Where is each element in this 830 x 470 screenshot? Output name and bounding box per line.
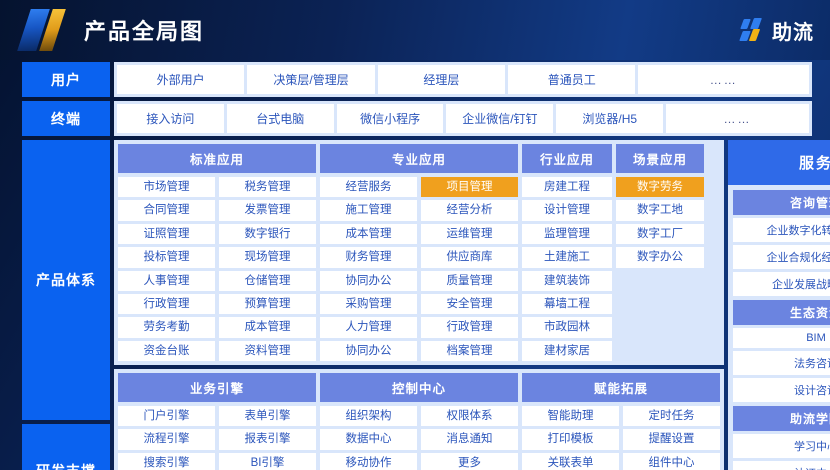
app-item[interactable]: 行政管理 bbox=[118, 294, 215, 314]
app-group-columns: 经营服务施工管理成本管理财务管理协同办公采购管理人力管理协同办公项目管理经营分析… bbox=[320, 177, 518, 361]
app-item[interactable]: 成本管理 bbox=[219, 317, 316, 337]
middle-content: 标准应用市场管理合同管理证照管理投标管理人事管理行政管理劳务考勤资金台账税务管理… bbox=[114, 140, 830, 470]
app-item[interactable]: 流程引擎 bbox=[118, 429, 215, 449]
list-item[interactable]: …… bbox=[666, 104, 809, 133]
service-block-title: 生态资源 bbox=[733, 300, 830, 325]
app-column: 组织架构数据中心移动协作 bbox=[320, 406, 417, 470]
list-item[interactable]: 浏览器/H5 bbox=[556, 104, 663, 133]
app-column: 项目管理经营分析运维管理供应商库质量管理安全管理行政管理档案管理 bbox=[421, 177, 518, 361]
app-item[interactable]: 搜索引擎 bbox=[118, 453, 215, 470]
page-header: 产品全局图 助流 bbox=[0, 0, 830, 60]
terminal-items: 接入访问台式电脑微信小程序企业微信/钉钉浏览器/H5…… bbox=[114, 101, 812, 136]
service-item[interactable]: 认证中心 bbox=[733, 461, 830, 470]
list-item[interactable]: 企业微信/钉钉 bbox=[446, 104, 553, 133]
app-item[interactable]: 现场管理 bbox=[219, 247, 316, 267]
app-group: 控制中心组织架构数据中心移动协作权限体系消息通知更多 bbox=[320, 373, 518, 470]
app-item[interactable]: 档案管理 bbox=[421, 341, 518, 361]
sidebar-label-product-system: 产品体系 bbox=[22, 140, 110, 420]
app-group-title: 赋能拓展 bbox=[522, 373, 720, 402]
service-item[interactable]: 设计咨询 bbox=[733, 378, 830, 402]
app-group-columns: 智能助理打印模板关联表单定时任务提醒设置组件中心 bbox=[522, 406, 720, 470]
service-item[interactable]: 法务咨询 bbox=[733, 351, 830, 375]
app-item[interactable]: 人事管理 bbox=[118, 271, 215, 291]
app-item[interactable]: 数据中心 bbox=[320, 429, 417, 449]
app-item[interactable]: 建材家居 bbox=[522, 341, 612, 361]
user-items: 外部用户决策层/管理层经理层普通员工…… bbox=[114, 62, 812, 97]
middle-left-column: 标准应用市场管理合同管理证照管理投标管理人事管理行政管理劳务考勤资金台账税务管理… bbox=[114, 140, 724, 470]
app-group: 赋能拓展智能助理打印模板关联表单定时任务提醒设置组件中心 bbox=[522, 373, 720, 470]
app-item[interactable]: 证照管理 bbox=[118, 224, 215, 244]
app-item[interactable]: 建筑装饰 bbox=[522, 271, 612, 291]
app-item[interactable]: 施工管理 bbox=[320, 200, 417, 220]
parallelogram-logo-icon bbox=[22, 9, 74, 51]
app-item[interactable]: 更多 bbox=[421, 453, 518, 470]
list-item[interactable]: 接入访问 bbox=[117, 104, 224, 133]
page-title: 产品全局图 bbox=[84, 14, 204, 46]
app-item[interactable]: 劳务考勤 bbox=[118, 317, 215, 337]
row-user: 用户 外部用户决策层/管理层经理层普通员工…… bbox=[22, 62, 812, 97]
service-block-title: 助流学院 bbox=[733, 406, 830, 431]
service-block-title: 咨询管理 bbox=[733, 190, 830, 215]
app-item[interactable]: 智能助理 bbox=[522, 406, 619, 426]
services-panel: 服务 咨询管理企业数字化转型咨询企业合规化经营咨询企业发展战略咨询生态资源BIM… bbox=[728, 140, 830, 470]
app-column: 房建工程设计管理监理管理土建施工建筑装饰幕墙工程市政园林建材家居 bbox=[522, 177, 612, 361]
app-item[interactable]: 预算管理 bbox=[219, 294, 316, 314]
app-item[interactable]: 人力管理 bbox=[320, 317, 417, 337]
list-item[interactable]: 决策层/管理层 bbox=[247, 65, 374, 94]
app-group-title: 控制中心 bbox=[320, 373, 518, 402]
app-item[interactable]: 采购管理 bbox=[320, 294, 417, 314]
app-item[interactable]: 门户引擎 bbox=[118, 406, 215, 426]
app-item[interactable]: 数字办公 bbox=[616, 247, 704, 267]
app-item[interactable]: 数字工地 bbox=[616, 200, 704, 220]
app-item[interactable]: 供应商库 bbox=[421, 247, 518, 267]
service-item[interactable]: 企业发展战略咨询 bbox=[733, 272, 830, 296]
app-item[interactable]: 协同办公 bbox=[320, 271, 417, 291]
app-item[interactable]: 报表引擎 bbox=[219, 429, 316, 449]
app-item[interactable]: 仓储管理 bbox=[219, 271, 316, 291]
app-column: 市场管理合同管理证照管理投标管理人事管理行政管理劳务考勤资金台账 bbox=[118, 177, 215, 361]
app-item[interactable]: 市政园林 bbox=[522, 317, 612, 337]
app-item[interactable]: 土建施工 bbox=[522, 247, 612, 267]
app-column: 表单引擎报表引擎BI引擎 bbox=[219, 406, 316, 470]
list-item[interactable]: 外部用户 bbox=[117, 65, 244, 94]
app-item[interactable]: 消息通知 bbox=[421, 429, 518, 449]
app-item[interactable]: 税务管理 bbox=[219, 177, 316, 197]
app-column: 权限体系消息通知更多 bbox=[421, 406, 518, 470]
service-item[interactable]: 企业数字化转型咨询 bbox=[733, 218, 830, 242]
app-item[interactable]: 数字工厂 bbox=[616, 224, 704, 244]
app-group-title: 业务引擎 bbox=[118, 373, 316, 402]
app-group-title: 行业应用 bbox=[522, 144, 612, 173]
rd-support-panel: 业务引擎门户引擎流程引擎搜索引擎表单引擎报表引擎BI引擎控制中心组织架构数据中心… bbox=[114, 369, 724, 470]
app-item[interactable]: 组件中心 bbox=[623, 453, 720, 470]
list-item[interactable]: …… bbox=[638, 65, 809, 94]
app-item[interactable]: 成本管理 bbox=[320, 224, 417, 244]
service-item[interactable]: 学习中心 bbox=[733, 434, 830, 458]
sidebar-label-user: 用户 bbox=[22, 62, 110, 97]
service-block: 咨询管理企业数字化转型咨询企业合规化经营咨询企业发展战略咨询 bbox=[733, 190, 830, 296]
list-item[interactable]: 普通员工 bbox=[508, 65, 635, 94]
architecture-board: 用户 外部用户决策层/管理层经理层普通员工…… 终端 接入访问台式电脑微信小程序… bbox=[0, 60, 830, 470]
app-group: 行业应用房建工程设计管理监理管理土建施工建筑装饰幕墙工程市政园林建材家居 bbox=[522, 144, 612, 361]
app-item[interactable]: 权限体系 bbox=[421, 406, 518, 426]
app-item[interactable]: 幕墙工程 bbox=[522, 294, 612, 314]
app-group: 场景应用数字劳务数字工地数字工厂数字办公 bbox=[616, 144, 704, 361]
app-item-highlighted[interactable]: 数字劳务 bbox=[616, 177, 704, 197]
row-terminal: 终端 接入访问台式电脑微信小程序企业微信/钉钉浏览器/H5…… bbox=[22, 101, 812, 136]
app-item[interactable]: 发票管理 bbox=[219, 200, 316, 220]
app-item[interactable]: 投标管理 bbox=[118, 247, 215, 267]
product-system-panel: 标准应用市场管理合同管理证照管理投标管理人事管理行政管理劳务考勤资金台账税务管理… bbox=[114, 140, 724, 365]
brand-area: 助流 bbox=[740, 16, 814, 45]
app-item[interactable]: 财务管理 bbox=[320, 247, 417, 267]
service-item[interactable]: BIM bbox=[733, 328, 830, 348]
row-middle: 产品体系 研发支撑 标准应用市场管理合同管理证照管理投标管理人事管理行政管理劳务… bbox=[22, 140, 812, 470]
app-column: 定时任务提醒设置组件中心 bbox=[623, 406, 720, 470]
app-item[interactable]: 关联表单 bbox=[522, 453, 619, 470]
app-group-columns: 门户引擎流程引擎搜索引擎表单引擎报表引擎BI引擎 bbox=[118, 406, 316, 470]
service-block: 生态资源BIM法务咨询设计咨询 bbox=[733, 300, 830, 402]
app-item[interactable]: 行政管理 bbox=[421, 317, 518, 337]
app-item[interactable]: 协同办公 bbox=[320, 341, 417, 361]
app-item[interactable]: BI引擎 bbox=[219, 453, 316, 470]
app-column: 数字劳务数字工地数字工厂数字办公 bbox=[616, 177, 704, 361]
app-item[interactable]: 房建工程 bbox=[522, 177, 612, 197]
app-item[interactable]: 资金台账 bbox=[118, 341, 215, 361]
app-group-columns: 数字劳务数字工地数字工厂数字办公 bbox=[616, 177, 704, 361]
service-block: 助流学院学习中心认证中心资料/干货/白皮书 bbox=[733, 406, 830, 470]
service-item[interactable]: 企业合规化经营咨询 bbox=[733, 245, 830, 269]
app-column: 税务管理发票管理数字银行现场管理仓储管理预算管理成本管理资料管理 bbox=[219, 177, 316, 361]
app-group-columns: 组织架构数据中心移动协作权限体系消息通知更多 bbox=[320, 406, 518, 470]
app-group: 业务引擎门户引擎流程引擎搜索引擎表单引擎报表引擎BI引擎 bbox=[118, 373, 316, 470]
brand-name: 助流 bbox=[772, 16, 814, 45]
app-item[interactable]: 经营服务 bbox=[320, 177, 417, 197]
app-item[interactable]: 合同管理 bbox=[118, 200, 215, 220]
app-item[interactable]: 资料管理 bbox=[219, 341, 316, 361]
app-item[interactable]: 质量管理 bbox=[421, 271, 518, 291]
app-item[interactable]: 监理管理 bbox=[522, 224, 612, 244]
app-group-columns: 市场管理合同管理证照管理投标管理人事管理行政管理劳务考勤资金台账税务管理发票管理… bbox=[118, 177, 316, 361]
app-item[interactable]: 市场管理 bbox=[118, 177, 215, 197]
app-column: 智能助理打印模板关联表单 bbox=[522, 406, 619, 470]
sidebar-label-rd-support: 研发支撑 bbox=[22, 424, 110, 470]
app-group: 标准应用市场管理合同管理证照管理投标管理人事管理行政管理劳务考勤资金台账税务管理… bbox=[118, 144, 316, 361]
services-title: 服务 bbox=[728, 140, 830, 185]
app-group-title: 专业应用 bbox=[320, 144, 518, 173]
app-item[interactable]: 定时任务 bbox=[623, 406, 720, 426]
app-item[interactable]: 经营分析 bbox=[421, 200, 518, 220]
app-item[interactable]: 数字银行 bbox=[219, 224, 316, 244]
list-item[interactable]: 经理层 bbox=[378, 65, 505, 94]
app-item[interactable]: 组织架构 bbox=[320, 406, 417, 426]
app-item[interactable]: 设计管理 bbox=[522, 200, 612, 220]
app-item[interactable]: 运维管理 bbox=[421, 224, 518, 244]
app-column: 经营服务施工管理成本管理财务管理协同办公采购管理人力管理协同办公 bbox=[320, 177, 417, 361]
app-item[interactable]: 移动协作 bbox=[320, 453, 417, 470]
app-group-columns: 房建工程设计管理监理管理土建施工建筑装饰幕墙工程市政园林建材家居 bbox=[522, 177, 612, 361]
app-group-title: 标准应用 bbox=[118, 144, 316, 173]
app-item-highlighted[interactable]: 项目管理 bbox=[421, 177, 518, 197]
sidebar-label-terminal: 终端 bbox=[22, 101, 110, 136]
app-item[interactable]: 表单引擎 bbox=[219, 406, 316, 426]
app-item[interactable]: 提醒设置 bbox=[623, 429, 720, 449]
list-item[interactable]: 台式电脑 bbox=[227, 104, 334, 133]
zhuliu-bolt-icon bbox=[740, 17, 766, 43]
list-item[interactable]: 微信小程序 bbox=[337, 104, 444, 133]
app-group: 专业应用经营服务施工管理成本管理财务管理协同办公采购管理人力管理协同办公项目管理… bbox=[320, 144, 518, 361]
app-item[interactable]: 打印模板 bbox=[522, 429, 619, 449]
app-item[interactable]: 安全管理 bbox=[421, 294, 518, 314]
app-group-title: 场景应用 bbox=[616, 144, 704, 173]
app-column: 门户引擎流程引擎搜索引擎 bbox=[118, 406, 215, 470]
services-body: 咨询管理企业数字化转型咨询企业合规化经营咨询企业发展战略咨询生态资源BIM法务咨… bbox=[728, 185, 830, 470]
